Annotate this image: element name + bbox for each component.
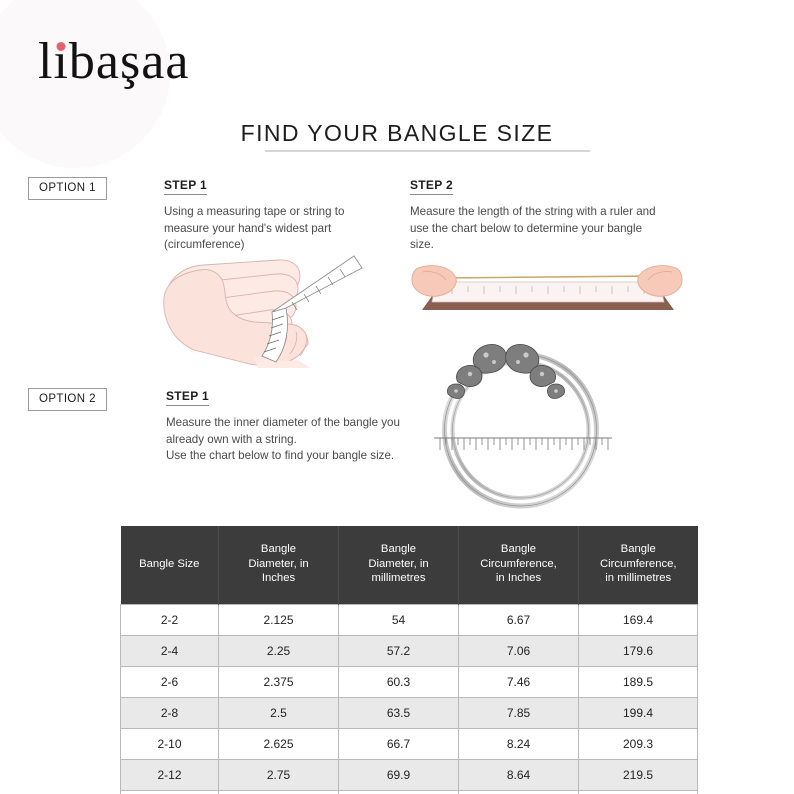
cell-value-4: 189.5 [579, 667, 698, 698]
cell-value-2: 69.9 [339, 760, 459, 791]
option1-step1-label: STEP 1 [164, 178, 207, 195]
cell-value-1: 2.375 [219, 667, 339, 698]
option1-step1-block: STEP 1 Using a measuring tape or string … [164, 176, 379, 254]
cell-value-4: 199.4 [579, 698, 698, 729]
option1-step2-text: Measure the length of the string with a … [410, 204, 665, 254]
silver-bangle-with-ruler-icon [420, 338, 620, 520]
logo-red-dot-icon [57, 42, 66, 51]
table-row: 2-102.62566.78.24209.3 [121, 729, 698, 760]
table-header-cell-4: BangleCircumference,in millimetres [579, 526, 698, 605]
cell-bangle-size: 2-14 [121, 791, 219, 794]
table-header-row: Bangle SizeBangleDiameter, inInchesBangl… [121, 526, 698, 605]
table-row: 2-122.7569.98.64219.5 [121, 760, 698, 791]
cell-bangle-size: 2-4 [121, 636, 219, 667]
page-title: FIND YOUR BANGLE SIZE [0, 120, 794, 147]
cell-value-4: 169.4 [579, 605, 698, 636]
cell-value-1: 2.125 [219, 605, 339, 636]
table-header-cell-0: Bangle Size [121, 526, 219, 605]
option2-step1-text: Measure the inner diameter of the bangle… [166, 415, 411, 465]
cell-value-3: 8.24 [459, 729, 579, 760]
cell-value-1: 2.625 [219, 729, 339, 760]
option1-step2-block: STEP 2 Measure the length of the string … [410, 176, 665, 254]
cell-value-4: 179.6 [579, 636, 698, 667]
bangle-size-table: Bangle SizeBangleDiameter, inInchesBangl… [120, 526, 698, 794]
table-header-cell-2: BangleDiameter, inmillimetres [339, 526, 459, 605]
brand-logo-part-s-cedilla: ş [120, 36, 141, 88]
table-header: Bangle SizeBangleDiameter, inInchesBangl… [121, 526, 698, 605]
cell-value-2: 63.5 [339, 698, 459, 729]
cell-value-2: 73 [339, 791, 459, 794]
title-divider [265, 150, 590, 152]
brand-logo-part-l: l [38, 33, 53, 90]
table-body: 2-22.125546.67169.42-42.2557.27.06179.62… [121, 605, 698, 794]
cell-value-4: 219.5 [579, 760, 698, 791]
table-row: 2-142.875739.03229.4 [121, 791, 698, 794]
cell-value-2: 66.7 [339, 729, 459, 760]
table-row: 2-22.125546.67169.4 [121, 605, 698, 636]
cell-value-4: 209.3 [579, 729, 698, 760]
table-header-cell-3: BangleCircumference,in Inches [459, 526, 579, 605]
option-2-badge: OPTION 2 [28, 388, 107, 411]
brand-logo-part-i: ı [53, 36, 68, 88]
cell-value-2: 57.2 [339, 636, 459, 667]
table-row: 2-82.563.57.85199.4 [121, 698, 698, 729]
cell-value-1: 2.75 [219, 760, 339, 791]
cell-bangle-size: 2-6 [121, 667, 219, 698]
brand-logo-part-aa: aa [141, 33, 189, 90]
option-1-badge: OPTION 1 [28, 177, 107, 200]
table-header-cell-1: BangleDiameter, inInches [219, 526, 339, 605]
cell-value-1: 2.25 [219, 636, 339, 667]
cell-bangle-size: 2-2 [121, 605, 219, 636]
cell-value-3: 9.03 [459, 791, 579, 794]
cell-bangle-size: 2-8 [121, 698, 219, 729]
option2-step1-label: STEP 1 [166, 389, 209, 406]
cell-bangle-size: 2-10 [121, 729, 219, 760]
cell-bangle-size: 2-12 [121, 760, 219, 791]
table-row: 2-62.37560.37.46189.5 [121, 667, 698, 698]
bangle-size-guide-page: lıbaşaa FIND YOUR BANGLE SIZE OPTION 1 S… [0, 0, 794, 794]
cell-value-1: 2.5 [219, 698, 339, 729]
cell-value-3: 7.46 [459, 667, 579, 698]
cell-value-3: 7.85 [459, 698, 579, 729]
option1-step2-label: STEP 2 [410, 178, 453, 195]
cell-value-1: 2.875 [219, 791, 339, 794]
cell-value-2: 54 [339, 605, 459, 636]
cell-value-3: 7.06 [459, 636, 579, 667]
cell-value-3: 6.67 [459, 605, 579, 636]
brand-logo-part-ba: ba [69, 33, 120, 90]
option2-step1-block: STEP 1 Measure the inner diameter of the… [166, 387, 411, 465]
cell-value-4: 229.4 [579, 791, 698, 794]
brand-logo: lıbaşaa [38, 36, 189, 88]
cell-value-3: 8.64 [459, 760, 579, 791]
hands-holding-string-over-ruler-icon [402, 252, 692, 324]
cell-value-2: 60.3 [339, 667, 459, 698]
table-row: 2-42.2557.27.06179.6 [121, 636, 698, 667]
hand-with-measuring-tape-icon [158, 244, 363, 369]
